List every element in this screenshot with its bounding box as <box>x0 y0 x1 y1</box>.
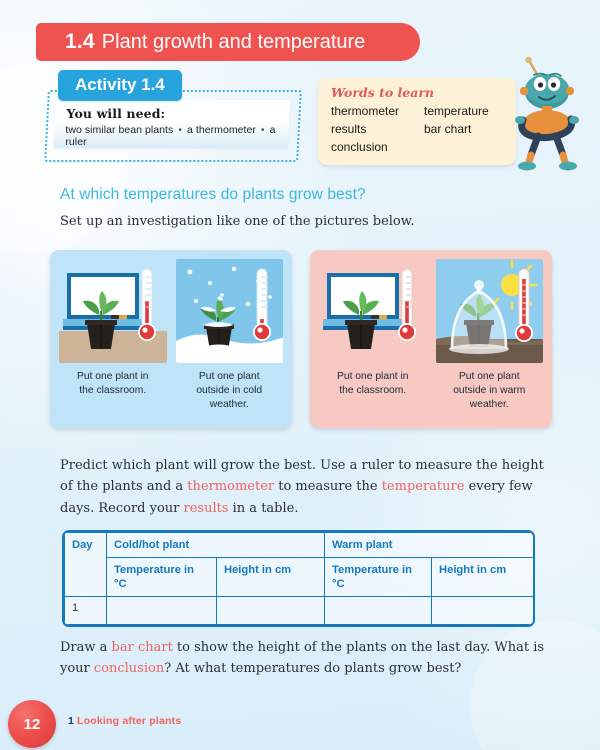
table-header-day: Day <box>65 533 107 597</box>
footer-unit-title: Looking after plants <box>77 715 181 727</box>
table-header-cold-hot-plant: Cold/hot plant <box>107 533 325 558</box>
table-cell-warm-temperature[interactable] <box>325 597 432 625</box>
classroom-windowsill-scene <box>59 259 167 363</box>
table-cell-warm-height[interactable] <box>432 597 535 625</box>
you-will-need-content: You will need: two similar bean plants •… <box>54 100 291 148</box>
caption-row: Put one plant inthe classroom. Put one p… <box>310 363 552 411</box>
scene-caption: Put one plantoutside in warmweather. <box>436 370 544 411</box>
keyword-temperature: temperature <box>382 479 465 494</box>
chapter-header-bar: 1.4 Plant growth and temperature <box>36 23 420 61</box>
text-segment: Draw a <box>60 640 112 655</box>
caption-row: Put one plant inthe classroom. Put one p… <box>50 363 292 411</box>
keyword-bar-chart: bar chart <box>112 640 173 655</box>
chapter-title: Plant growth and temperature <box>102 31 366 54</box>
words-to-learn-list: thermometertemperatureresultsbar chartco… <box>331 103 506 156</box>
text-segment: to measure the <box>274 479 382 494</box>
table-cell-cold-temperature[interactable] <box>107 597 217 625</box>
need-item: two similar bean plants <box>65 124 173 136</box>
classroom-windowsill-scene <box>319 259 427 363</box>
table-subheader-warm-temperature: Temperature in °C <box>325 558 432 597</box>
page-canvas: 1.4 Plant growth and temperature Activit… <box>0 0 600 750</box>
snowy-outdoor-scene <box>176 259 284 363</box>
scene-row <box>310 250 552 363</box>
robot-mascot-icon <box>505 56 591 172</box>
section-question-heading: At which temperatures do plants grow bes… <box>60 186 366 204</box>
word-to-learn: bar chart <box>424 121 506 138</box>
word-to-learn: thermometer <box>331 103 424 120</box>
word-to-learn: conclusion <box>331 139 424 156</box>
table-header-warm-plant: Warm plant <box>325 533 535 558</box>
footer-unit-label: 1Looking after plants <box>68 715 181 727</box>
scene-caption: Put one plantoutside in coldweather. <box>176 370 284 411</box>
table-row-sub-headers: Temperature in °C Height in cm Temperatu… <box>65 558 536 597</box>
table-subheader-cold-height: Height in cm <box>217 558 325 597</box>
text-segment: in a table. <box>229 501 299 516</box>
footer-unit-number: 1 <box>68 715 74 727</box>
you-will-need-title: You will need: <box>67 106 281 121</box>
page-number-badge: 12 <box>8 700 56 748</box>
thermometer-icon <box>395 267 419 347</box>
sunny-cloche-outdoor-scene <box>436 259 544 363</box>
activity-tab-label: Activity 1.4 <box>58 70 182 101</box>
scene-row <box>50 250 292 363</box>
results-table: Day Cold/hot plant Warm plant Temperatur… <box>64 532 535 625</box>
table-row-group-headers: Day Cold/hot plant Warm plant <box>65 533 536 558</box>
scene-caption: Put one plant inthe classroom. <box>319 370 427 411</box>
thermometer-icon <box>250 267 274 347</box>
keyword-results: results <box>184 501 229 516</box>
scene-caption: Put one plant inthe classroom. <box>59 370 167 411</box>
chapter-number: 1.4 <box>65 30 95 54</box>
word-to-learn: results <box>331 121 424 138</box>
cold-experiment-panel: Put one plant inthe classroom. Put one p… <box>50 250 292 428</box>
table-subheader-warm-height: Height in cm <box>432 558 535 597</box>
word-to-learn: temperature <box>424 103 506 120</box>
results-table-wrapper: Day Cold/hot plant Warm plant Temperatur… <box>62 530 535 627</box>
instruction-paragraph-2: Draw a bar chart to show the height of t… <box>60 637 552 680</box>
need-item: a thermometer <box>187 124 256 136</box>
thermometer-icon <box>135 267 159 347</box>
table-cell-cold-height[interactable] <box>217 597 325 625</box>
thermometer-icon <box>512 267 536 349</box>
table-subheader-cold-temperature: Temperature in °C <box>107 558 217 597</box>
need-item-separator: • <box>256 124 270 136</box>
words-to-learn-title: Words to learn <box>331 85 506 100</box>
instruction-paragraph-1: Predict which plant will grow the best. … <box>60 455 552 519</box>
warm-experiment-panel: Put one plant inthe classroom. Put one p… <box>310 250 552 428</box>
table-row: 1 <box>65 597 536 625</box>
keyword-conclusion: conclusion <box>94 661 164 676</box>
words-to-learn-box: Words to learn thermometertemperatureres… <box>318 78 516 165</box>
need-item-separator: • <box>173 124 187 136</box>
table-cell-day-value[interactable]: 1 <box>65 597 107 625</box>
section-lead-text: Set up an investigation like one of the … <box>60 214 414 229</box>
keyword-thermometer: thermometer <box>187 479 274 494</box>
you-will-need-items: two similar bean plants • a thermometer … <box>65 124 279 148</box>
text-segment: ? At what temperatures do plants grow be… <box>164 661 461 676</box>
